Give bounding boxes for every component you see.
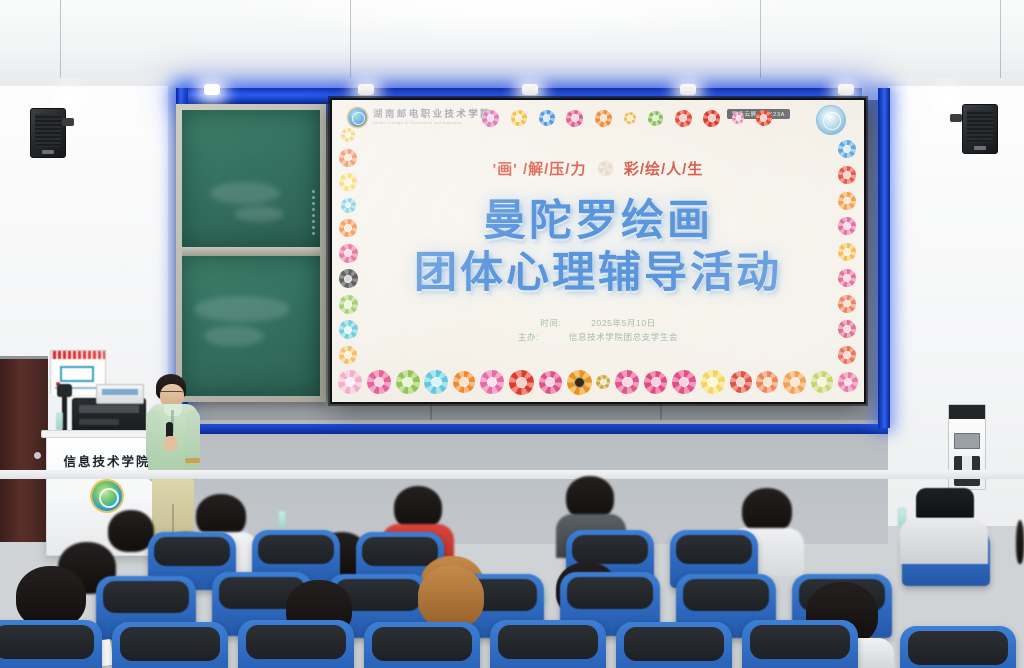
slide-meta-block: 时间: 2025年5月10日 主办: 信息技术学院团总支学生会 [332,316,864,345]
front-desk-ledge [0,470,1024,479]
ceiling-spotlight [938,92,954,103]
mandala-flower-icon [511,110,527,126]
ceiling-seam [1000,0,1001,88]
door-knob [34,452,41,459]
speaker-badge [974,146,986,150]
mandala-flower-icon [367,370,391,394]
watermark-seal-icon [816,105,846,135]
speaker-mount [950,114,962,122]
speaker-mount [62,118,74,126]
poster-floorplan [60,366,94,382]
control-panel-top [949,405,985,419]
mandala-flower-icon [730,371,752,393]
audience-area [0,470,1024,668]
mandala-flower-icon [539,371,562,394]
mandala-flower-icon [566,110,583,127]
wristwatch-icon [185,458,200,463]
auditorium-seat [616,622,732,668]
flower-border-bottom [338,367,858,397]
speaker-grille [967,110,993,143]
chalkboard [176,104,326,402]
microphone-head [57,384,72,397]
mandala-flower-icon [596,375,610,389]
mandala-flower-icon [838,140,856,158]
water-bottle [278,510,286,529]
cove-light-right [878,88,890,428]
mandala-flower-icon [756,110,772,126]
auditorium-seat [112,622,228,668]
mandala-flower-icon [703,110,720,127]
mandala-flower-icon [732,112,744,124]
meta-value-time: 2025年5月10日 [591,318,656,328]
audience-shirt [900,518,988,564]
auditorium-seat [742,620,858,668]
auditorium-seat [490,620,606,668]
slide-title-line-2: 团体心理辅导活动 [332,238,864,300]
control-panel-display [954,433,980,449]
flower-border-top [482,106,772,130]
mandala-flower-icon [338,370,362,394]
ceiling-spotlight [522,84,538,95]
speaker-grille [35,114,61,147]
baseball-cap [916,488,974,518]
audience-head [16,566,86,628]
college-crest-icon [348,108,367,127]
auditorium-seat [900,626,1016,668]
chalkboard-divider [182,247,320,256]
ceiling-seam [60,0,61,88]
ceiling-seam [760,0,761,88]
mandala-flower-icon [615,370,639,394]
slide-meta-row: 主办: 信息技术学院团总支学生会 [332,330,864,344]
auditorium-seat [0,620,102,668]
college-name-en: Hunan College of Economics and Business [373,122,492,126]
speaker-badge [42,150,54,154]
podium-monitor [96,384,144,404]
slide-tagline: '画' /解/压/力 彩/绘/人/生 [332,158,864,179]
chalkboard-inner [182,110,320,396]
mandala-flower-icon [595,110,612,127]
college-logo-lockup: 湖南邮电职业技术学院 Hunan College of Economics an… [348,108,492,127]
ceiling-spotlight [358,84,374,95]
audience-head [418,566,484,628]
mandala-flower-icon [396,370,420,394]
poster-header [51,351,105,359]
mandala-flower-icon [480,370,504,394]
mandala-flower-icon [648,111,663,126]
eyeglasses-icon [159,391,183,396]
meta-label-time: 时间: [540,316,574,330]
mandala-flower-icon [811,371,833,393]
left-wall-speaker [30,108,66,158]
ceiling-spotlight [204,84,220,95]
mandala-flower-icon [675,110,692,127]
slide-meta-row: 时间: 2025年5月10日 [332,316,864,330]
mandala-flower-icon [341,128,355,142]
mandala-flower-icon [339,346,357,364]
presenter-hand [164,436,177,451]
mandala-flower-icon [701,370,725,394]
ceiling-spotlight [62,92,78,103]
meta-label-host: 主办: [518,330,552,344]
college-logo-text: 湖南邮电职业技术学院 Hunan College of Economics an… [373,110,492,126]
ceiling-seam [350,0,351,88]
ceiling-glow [0,0,1024,60]
ceiling-spotlight [680,84,696,95]
mandala-flower-icon [509,370,534,395]
mandala-flower-icon [453,371,475,393]
ceiling-spotlight [838,84,854,95]
mandala-flower-icon [838,346,856,364]
tagline-left: '画' /解/压/力 [493,161,587,178]
mandala-flower-icon [783,371,806,394]
college-name-cn: 湖南邮电职业技术学院 [373,110,492,120]
mandala-flower-icon [672,370,696,394]
mandala-flower-icon [644,371,667,394]
wall-trim-stripe [176,424,888,434]
flower-ornament-icon [597,160,614,177]
mandala-flower-icon [624,112,636,124]
lecture-hall-photo: 湖南邮电职业技术学院 Hunan College of Economics an… [0,0,1024,668]
chalkboard-magnets [312,190,315,235]
chalkboard-panel-top [182,110,320,247]
auditorium-seat [238,620,354,668]
presenter-left-arm [146,410,161,462]
mandala-flower-icon [567,370,592,395]
projection-screen: 湖南邮电职业技术学院 Hunan College of Economics an… [330,98,866,404]
tagline-right: 彩/绘/人/生 [624,161,704,178]
mandala-flower-icon [756,371,778,393]
meta-value-host: 信息技术学院团总支学生会 [569,332,678,342]
auditorium-seat [364,622,480,668]
water-bottle [56,412,63,430]
audience-head [1016,520,1024,564]
mandala-flower-icon [482,110,499,127]
right-wall-speaker [962,104,998,154]
mandala-flower-icon [838,372,858,392]
slide-content: 湖南邮电职业技术学院 Hunan College of Economics an… [332,100,864,402]
mandala-flower-icon [424,370,448,394]
mandala-flower-icon [539,110,555,126]
